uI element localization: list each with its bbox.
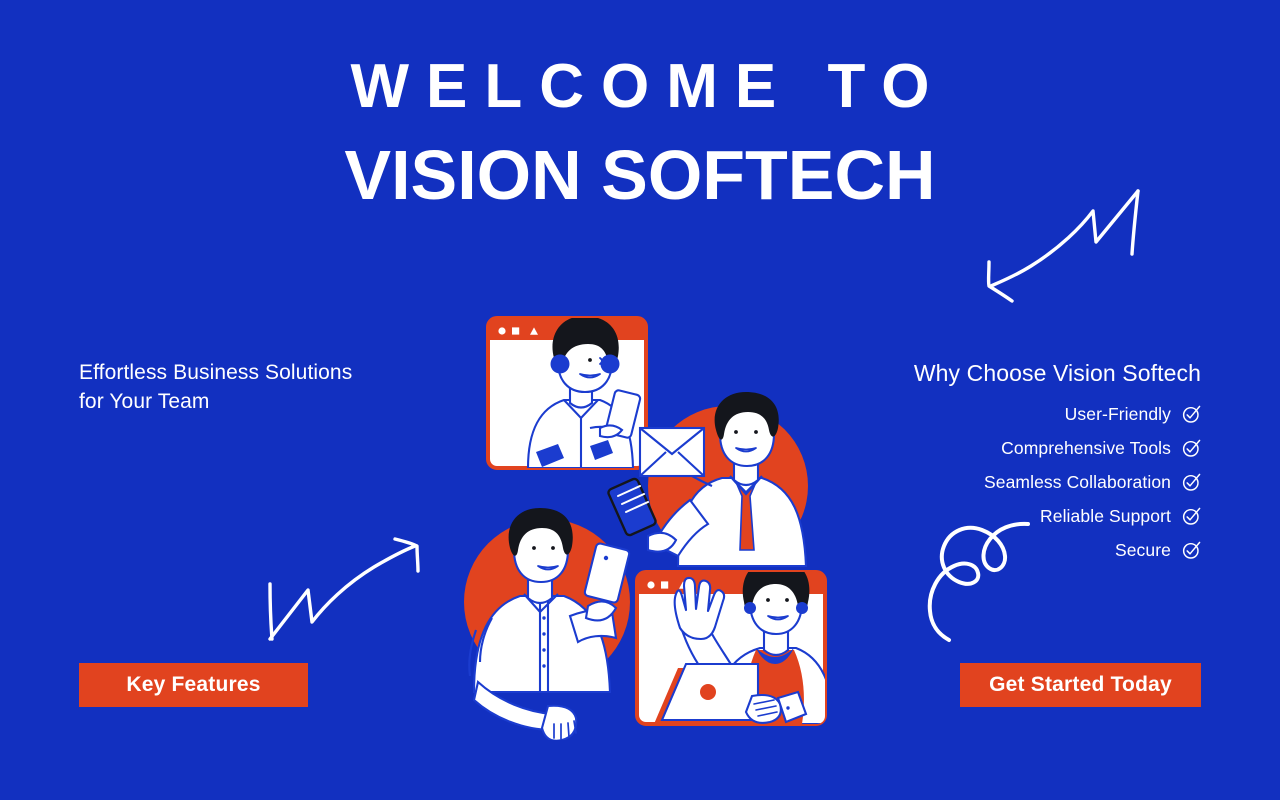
page-title-line-2: VISION SOFTECH — [0, 140, 1280, 210]
page-title: WELCOME TO VISION SOFTECH — [0, 56, 1280, 210]
tagline-text: Effortless Business Solutions for Your T… — [79, 358, 379, 416]
feature-label: User-Friendly — [1065, 404, 1171, 425]
video-call-window-bottom — [637, 558, 834, 724]
feature-item-secure: Secure — [871, 533, 1201, 567]
arrow-icon-up-right — [248, 522, 443, 650]
why-choose-title: Why Choose Vision Softech — [871, 358, 1201, 388]
check-circle-icon — [1182, 404, 1201, 424]
page-title-line-1: WELCOME TO — [0, 56, 1280, 118]
window-control-circle — [498, 327, 505, 334]
feature-label: Seamless Collaboration — [984, 472, 1171, 493]
get-started-today-button[interactable]: Get Started Today — [960, 663, 1201, 707]
earring-left — [744, 602, 756, 614]
check-circle-icon — [1182, 540, 1201, 560]
team-collaboration-illustration — [440, 300, 840, 740]
check-circle-icon — [1182, 438, 1201, 458]
feature-item-comprehensive-tools: Comprehensive Tools — [871, 431, 1201, 465]
check-circle-icon — [1182, 506, 1201, 526]
window-control-circle — [647, 581, 654, 588]
feature-item-reliable-support: Reliable Support — [871, 499, 1201, 533]
poster-canvas: WELCOME TO VISION SOFTECH Effortless Bus… — [0, 0, 1280, 800]
envelope-icon — [640, 428, 704, 476]
video-call-window-top — [488, 316, 646, 468]
check-circle-icon — [1182, 472, 1201, 492]
feature-label: Secure — [1115, 540, 1171, 561]
laptop-logo — [700, 684, 716, 700]
window-control-square — [661, 581, 668, 588]
earring-right — [796, 602, 808, 614]
headset-cup-left — [551, 355, 570, 374]
why-choose-panel: Why Choose Vision Softech User-Friendly … — [871, 358, 1201, 567]
feature-label: Comprehensive Tools — [1001, 438, 1171, 459]
window-control-square — [512, 327, 519, 334]
feature-item-user-friendly: User-Friendly — [871, 397, 1201, 431]
headset-cup-right — [601, 355, 620, 374]
feature-item-seamless-collaboration: Seamless Collaboration — [871, 465, 1201, 499]
feature-label: Reliable Support — [1040, 506, 1171, 527]
key-features-button[interactable]: Key Features — [79, 663, 308, 707]
